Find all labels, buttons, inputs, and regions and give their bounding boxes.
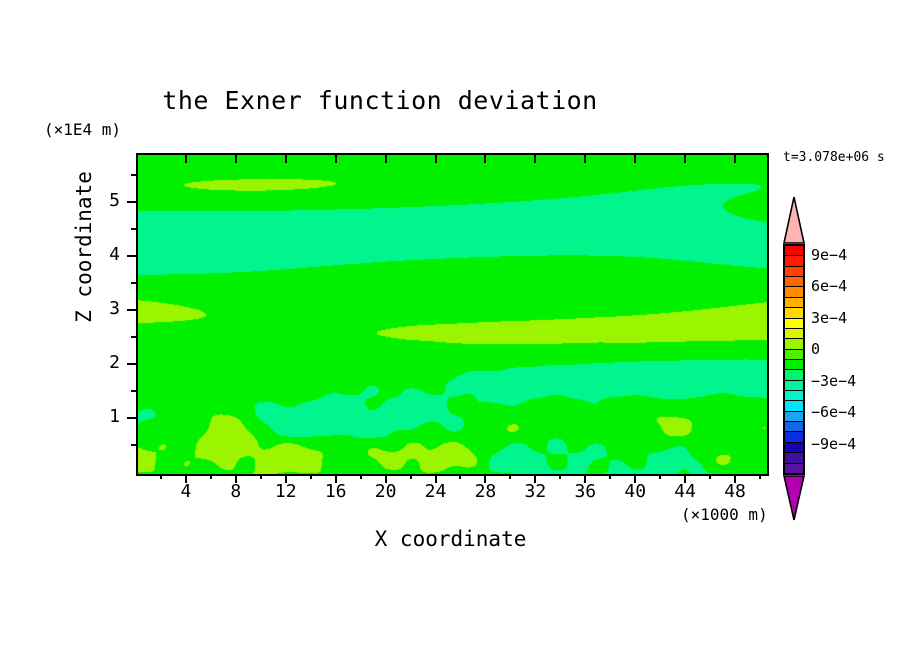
colorbar-band bbox=[785, 277, 803, 287]
x-tick-label: 40 bbox=[615, 481, 655, 502]
colorbar-bands bbox=[783, 244, 805, 475]
x-tick-mark-top bbox=[534, 155, 536, 163]
colorbar-band bbox=[785, 246, 803, 256]
contour-field bbox=[138, 155, 767, 474]
x-tick-mark-top bbox=[235, 155, 237, 163]
colorbar-band bbox=[785, 453, 803, 463]
colorbar-band bbox=[785, 256, 803, 266]
x-tick-minor bbox=[509, 474, 511, 479]
y-tick-minor bbox=[131, 444, 136, 446]
x-tick-mark-top bbox=[734, 155, 736, 163]
x-tick-mark-top bbox=[335, 155, 337, 163]
colorbar-tick-label: −6e−4 bbox=[811, 403, 856, 421]
x-tick-minor bbox=[559, 474, 561, 479]
x-tick-minor bbox=[759, 474, 761, 479]
x-tick-label: 44 bbox=[665, 481, 705, 502]
contour-plot-area bbox=[136, 153, 769, 476]
colorbar-tick-label: 9e−4 bbox=[811, 246, 847, 264]
colorbar-band bbox=[785, 287, 803, 297]
y-tick-minor bbox=[131, 174, 136, 176]
y-tick-minor bbox=[131, 228, 136, 230]
colorbar-bottom-arrow-icon bbox=[783, 475, 805, 521]
y-tick-mark bbox=[127, 201, 136, 203]
x-tick-minor bbox=[310, 474, 312, 479]
colorbar-band bbox=[785, 443, 803, 453]
x-tick-mark-top bbox=[484, 155, 486, 163]
colorbar-band bbox=[785, 360, 803, 370]
z-axis-units-label: (×1E4 m) bbox=[44, 120, 121, 139]
colorbar-band bbox=[785, 298, 803, 308]
y-axis-title: Z coordinate bbox=[72, 157, 96, 337]
x-tick-label: 28 bbox=[465, 481, 505, 502]
y-tick-mark bbox=[127, 417, 136, 419]
page-title: the Exner function deviation bbox=[0, 86, 760, 115]
colorbar-band bbox=[785, 350, 803, 360]
x-tick-mark-top bbox=[385, 155, 387, 163]
x-tick-label: 8 bbox=[216, 481, 256, 502]
colorbar-tick-label: 6e−4 bbox=[811, 277, 847, 295]
x-tick-minor bbox=[360, 474, 362, 479]
y-tick-minor bbox=[131, 336, 136, 338]
x-tick-label: 12 bbox=[266, 481, 306, 502]
y-tick-mark bbox=[127, 363, 136, 365]
y-tick-mark bbox=[127, 255, 136, 257]
colorbar-band bbox=[785, 432, 803, 442]
timestamp-annotation: t=3.078e+06 s bbox=[783, 150, 885, 165]
colorbar-band bbox=[785, 464, 803, 473]
x-tick-minor bbox=[210, 474, 212, 479]
x-tick-mark-top bbox=[285, 155, 287, 163]
x-tick-minor bbox=[659, 474, 661, 479]
colorbar-band bbox=[785, 401, 803, 411]
x-tick-mark-top bbox=[185, 155, 187, 163]
colorbar-band bbox=[785, 391, 803, 401]
x-tick-mark-top bbox=[634, 155, 636, 163]
y-tick-minor bbox=[131, 390, 136, 392]
x-tick-minor bbox=[410, 474, 412, 479]
x-tick-label: 48 bbox=[715, 481, 755, 502]
x-tick-minor bbox=[609, 474, 611, 479]
y-tick-label: 2 bbox=[90, 352, 120, 373]
colorbar-band bbox=[785, 412, 803, 422]
y-tick-label: 1 bbox=[90, 406, 120, 427]
x-tick-label: 36 bbox=[565, 481, 605, 502]
x-tick-minor bbox=[709, 474, 711, 479]
colorbar-tick-label: −3e−4 bbox=[811, 372, 856, 390]
y-tick-minor bbox=[131, 282, 136, 284]
x-axis-title: X coordinate bbox=[136, 527, 765, 551]
colorbar-band bbox=[785, 319, 803, 329]
colorbar-band bbox=[785, 308, 803, 318]
colorbar-tick-label: −9e−4 bbox=[811, 435, 856, 453]
x-tick-label: 24 bbox=[416, 481, 456, 502]
colorbar-band bbox=[785, 267, 803, 277]
x-tick-mark-top bbox=[435, 155, 437, 163]
x-axis-units-label: (×1000 m) bbox=[681, 505, 768, 524]
colorbar-tick-label: 3e−4 bbox=[811, 309, 847, 327]
x-tick-label: 32 bbox=[515, 481, 555, 502]
x-tick-label: 16 bbox=[316, 481, 356, 502]
x-tick-minor bbox=[459, 474, 461, 479]
colorbar-band bbox=[785, 422, 803, 432]
x-tick-label: 20 bbox=[366, 481, 406, 502]
colorbar-band bbox=[785, 329, 803, 339]
colorbar-band bbox=[785, 339, 803, 349]
colorbar-tick-label: 0 bbox=[811, 340, 820, 358]
x-tick-minor bbox=[160, 474, 162, 479]
x-tick-mark-top bbox=[584, 155, 586, 163]
colorbar-band bbox=[785, 381, 803, 391]
x-tick-label: 4 bbox=[166, 481, 206, 502]
colorbar-band bbox=[785, 370, 803, 380]
colorbar: 9e−46e−43e−40−3e−4−6e−4−9e−4 bbox=[781, 196, 807, 521]
y-tick-mark bbox=[127, 309, 136, 311]
x-tick-minor bbox=[260, 474, 262, 479]
x-tick-mark-top bbox=[684, 155, 686, 163]
colorbar-top-arrow-icon bbox=[783, 196, 805, 244]
